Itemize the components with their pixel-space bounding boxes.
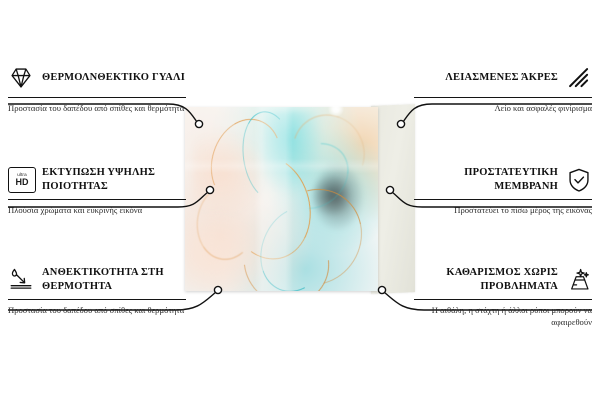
divider <box>8 199 186 200</box>
abstract-marble-artwork <box>185 107 378 291</box>
product-feature-infographic: ΘΕΡΜΟΛΝΘΕΚΤΙΚΟ ΓΥΑΛΙ Προστασία του δαπέδ… <box>0 0 600 400</box>
feature-title: ΑΝΘΕΚΤΙΚΟΤΗΤΑ ΣΤΗ ΘΕΡΜΟΤΗΤΑ <box>42 266 186 294</box>
feature-polished-edges: ΛΕΙΑΣΜΕΝΕΣ ΆΚΡΕΣ Λείο και ασφαλές φινίρι… <box>414 62 592 114</box>
glass-print-panel <box>185 107 378 291</box>
divider <box>8 299 186 300</box>
feature-description: Προστασία του δαπέδου από σπίθες και θερ… <box>8 102 186 114</box>
diamond-icon <box>8 65 34 91</box>
feature-protective-membrane: ΠΡΟΣΤΑΤΕΥΤΙΚΗ ΜΕΜΒΡΑΝΗ Προστατεύει το πί… <box>414 164 592 216</box>
feature-heat-resistant-glass: ΘΕΡΜΟΛΝΘΕΚΤΙΚΟ ΓΥΑΛΙ Προστασία του δαπέδ… <box>8 62 186 114</box>
feature-description: Λείο και ασφαλές φινίρισμα <box>414 102 592 114</box>
divider <box>414 97 592 98</box>
feature-description: Προστασία του δαπέδου από σπίθες και θερ… <box>8 304 186 316</box>
feature-title: ΚΑΘΑΡΙΣΜΟΣ ΧΩΡΙΣ ΠΡΟΒΛΗΜΑΤΑ <box>414 266 558 294</box>
feature-title: ΕΚΤΥΠΩΣΗ ΥΨΗΛΗΣ ΠΟΙΟΤΗΤΑΣ <box>42 166 186 194</box>
feature-heat-durability: ΑΝΘΕΚΤΙΚΟΤΗΤΑ ΣΤΗ ΘΕΡΜΟΤΗΤΑ Προστασία το… <box>8 264 186 316</box>
shield-check-icon <box>566 167 592 193</box>
divider <box>414 199 592 200</box>
divider <box>414 299 592 300</box>
feature-description: Πλούσια χρώματα και ευκρινής εικόνα <box>8 204 186 216</box>
ultra-hd-icon: ultra HD <box>8 167 34 193</box>
glass-highlight-icon <box>328 101 344 117</box>
product-image <box>185 107 415 293</box>
feature-high-quality-print: ultra HD ΕΚΤΥΠΩΣΗ ΥΨΗΛΗΣ ΠΟΙΟΤΗΤΑΣ Πλούσ… <box>8 164 186 216</box>
feature-description: Η αιθάλη, η στάχτη ή άλλοι ρύποι μπορούν… <box>414 304 592 328</box>
polished-edges-icon <box>566 65 592 91</box>
feature-title: ΛΕΙΑΣΜΕΝΕΣ ΆΚΡΕΣ <box>414 71 558 85</box>
feature-description: Προστατεύει το πίσω μέρος της εικόνας <box>414 204 592 216</box>
heat-resistance-icon <box>8 267 34 293</box>
ultra-hd-large-label: HD <box>16 178 29 187</box>
feature-title: ΘΕΡΜΟΛΝΘΕΚΤΙΚΟ ΓΥΑΛΙ <box>42 71 186 85</box>
sparkle-clean-icon <box>566 267 592 293</box>
feature-easy-cleaning: ΚΑΘΑΡΙΣΜΟΣ ΧΩΡΙΣ ΠΡΟΒΛΗΜΑΤΑ Η αιθάλη, η … <box>414 264 592 328</box>
feature-title: ΠΡΟΣΤΑΤΕΥΤΙΚΗ ΜΕΜΒΡΑΝΗ <box>414 166 558 194</box>
divider <box>8 97 186 98</box>
